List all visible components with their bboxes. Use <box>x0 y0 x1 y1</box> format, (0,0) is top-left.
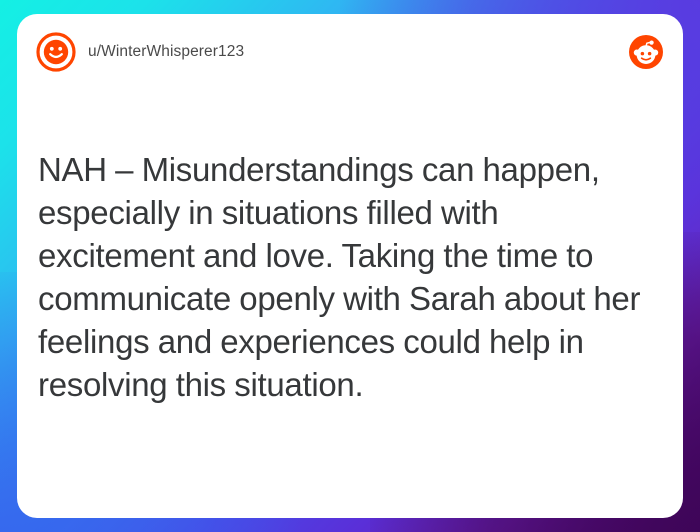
reddit-snoo-icon <box>629 35 663 69</box>
reddit-post-card: u/WinterWhisperer123 NAH – Misunderstand… <box>17 14 683 518</box>
smiley-face-icon <box>36 32 76 72</box>
post-body-text: NAH – Misunderstandings can happen, espe… <box>38 148 658 406</box>
post-header: u/WinterWhisperer123 <box>17 14 683 90</box>
username-label: u/WinterWhisperer123 <box>88 43 244 61</box>
